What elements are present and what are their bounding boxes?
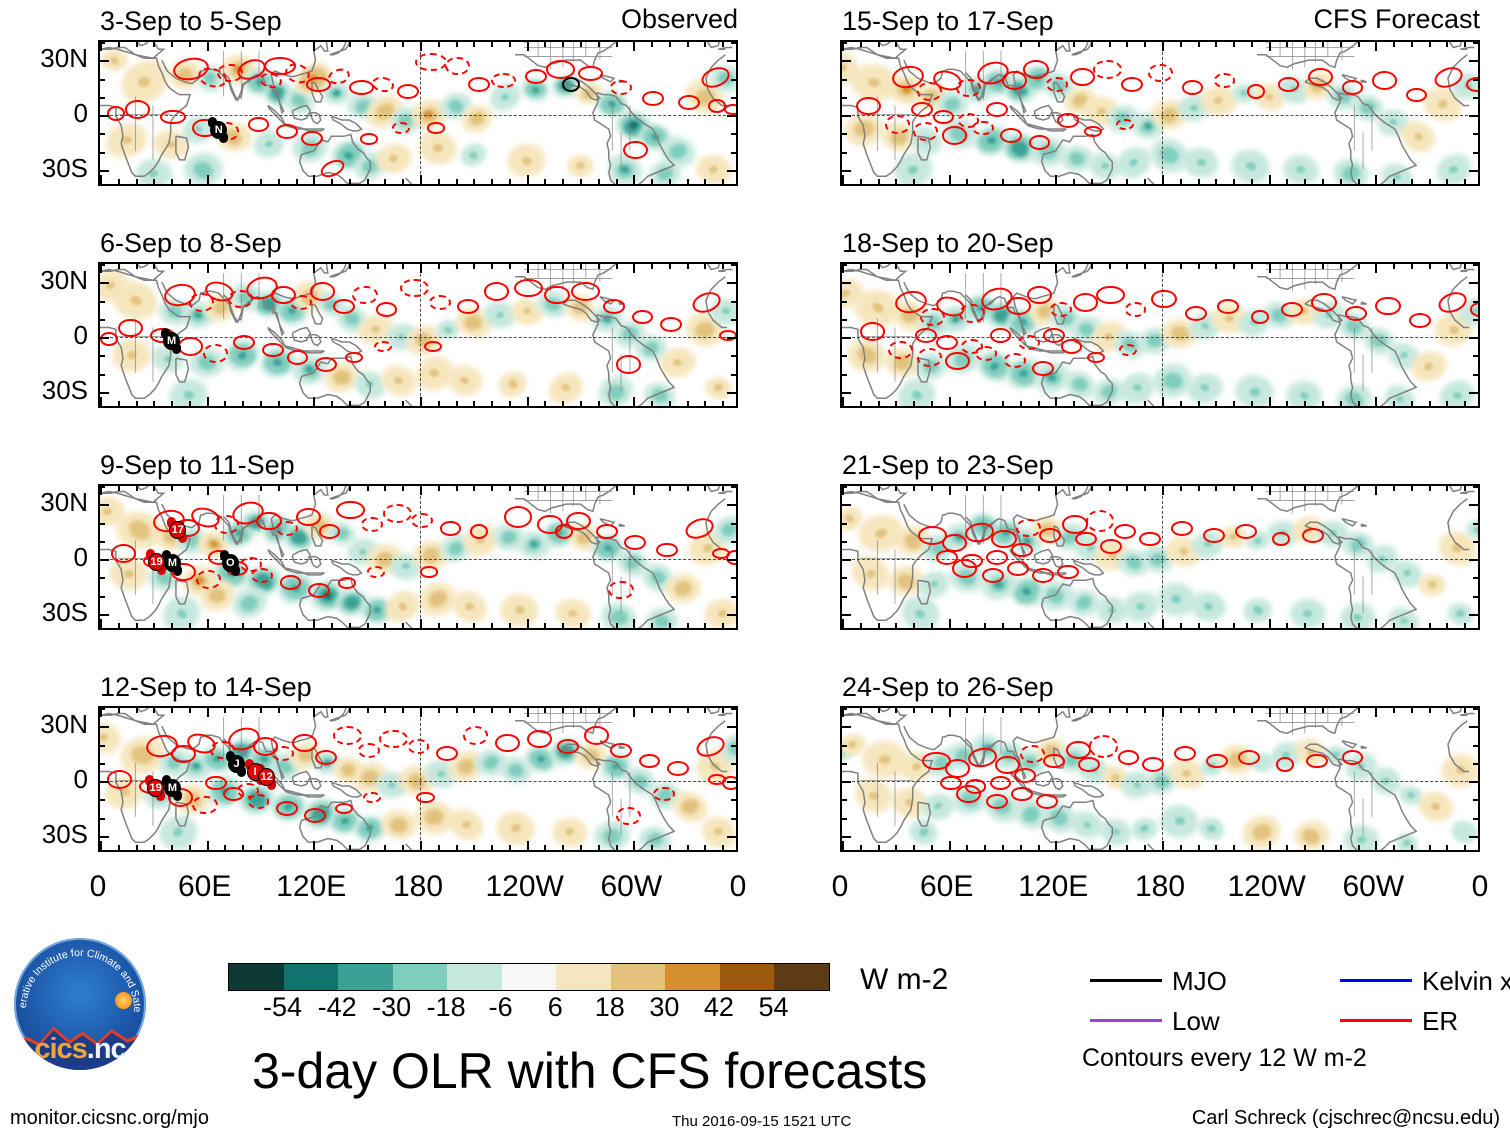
y-tick — [1473, 319, 1478, 321]
wave-contour — [616, 355, 641, 374]
wave-contour — [1032, 568, 1054, 583]
y-tick — [842, 708, 847, 710]
x-tick — [722, 179, 724, 184]
x-tick — [984, 401, 986, 406]
x-tick — [1446, 42, 1448, 47]
x-tick — [687, 623, 689, 628]
wave-contour — [990, 776, 1012, 791]
x-tick — [491, 401, 493, 406]
x-tick — [1073, 623, 1075, 628]
x-tick — [384, 179, 386, 184]
x-tick — [207, 708, 209, 717]
wave-contour — [986, 794, 1008, 809]
x-tick — [544, 623, 546, 628]
x-tick — [722, 708, 724, 713]
y-tick — [842, 504, 851, 506]
x-tick — [153, 179, 155, 184]
x-tick — [384, 42, 386, 47]
x-tick — [1464, 845, 1466, 850]
wave-contour — [296, 508, 321, 527]
x-tick — [895, 179, 897, 184]
wave-contour — [1342, 80, 1364, 95]
x-tick — [651, 708, 653, 713]
x-tick — [367, 42, 369, 47]
x-tick — [136, 42, 138, 47]
dateline — [1162, 486, 1163, 628]
y-tick — [727, 504, 736, 506]
y-axis-label: 0 — [6, 322, 88, 348]
y-tick — [842, 799, 847, 801]
colorbar-segment — [665, 964, 720, 990]
legend-label-low: Low — [1172, 1008, 1220, 1034]
y-tick — [842, 282, 851, 284]
x-tick — [260, 845, 262, 850]
map-panel-p6[interactable] — [840, 262, 1480, 408]
y-tick — [731, 818, 736, 820]
x-tick — [136, 179, 138, 184]
wave-contour — [1018, 335, 1040, 350]
x-tick — [1038, 486, 1040, 491]
x-tick — [1429, 486, 1431, 491]
x-tick — [1162, 175, 1164, 184]
x-tick — [598, 708, 600, 713]
wave-contour — [1114, 524, 1136, 539]
x-tick — [562, 623, 564, 628]
x-tick — [456, 401, 458, 406]
y-axis-label: 0 — [6, 766, 88, 792]
x-tick — [260, 179, 262, 184]
y-tick — [100, 577, 105, 579]
wave-contour — [1121, 77, 1143, 92]
x-tick — [1091, 845, 1093, 850]
x-tick — [1286, 264, 1288, 269]
logo-sun-icon — [115, 992, 132, 1009]
x-tick — [633, 42, 635, 51]
wave-contour — [1096, 286, 1125, 305]
map-panel-p5[interactable] — [840, 40, 1480, 186]
x-tick — [1215, 179, 1217, 184]
y-tick — [842, 392, 851, 394]
wave-contour — [1151, 290, 1176, 309]
legend-swatch-er — [1340, 1019, 1412, 1022]
wave-contour — [1061, 339, 1083, 354]
wave-contour — [642, 91, 664, 106]
map-panel-p8[interactable] — [840, 706, 1480, 852]
x-tick — [118, 179, 120, 184]
x-tick — [1215, 708, 1217, 713]
wave-contour — [484, 282, 509, 301]
x-tick — [1073, 486, 1075, 491]
x-tick — [1162, 841, 1164, 850]
wave-contour — [333, 299, 355, 314]
map-panel-p3[interactable]: 1719MO — [98, 484, 738, 630]
x-tick — [913, 179, 915, 184]
wave-contour — [571, 282, 600, 301]
x-tick — [1198, 486, 1200, 491]
x-tick — [527, 42, 529, 51]
x-tick — [1304, 179, 1306, 184]
x-tick — [438, 42, 440, 47]
y-tick — [100, 559, 109, 561]
y-tick — [727, 115, 736, 117]
y-tick — [842, 614, 851, 616]
x-tick — [224, 708, 226, 713]
wave-contour — [445, 57, 470, 76]
wave-contour — [196, 570, 221, 589]
wave-contour — [1011, 543, 1033, 558]
x-tick — [136, 708, 138, 713]
wave-contour — [308, 583, 330, 598]
y-tick — [1473, 374, 1478, 376]
x-tick — [1144, 845, 1146, 850]
x-tick — [1411, 179, 1413, 184]
wave-contour — [1278, 77, 1300, 92]
wave-contour — [956, 79, 981, 98]
wave-contour — [1057, 113, 1079, 128]
x-tick — [367, 401, 369, 406]
x-tick — [1429, 264, 1431, 269]
x-tick — [669, 42, 671, 47]
panel-title-p4: 12-Sep to 14-Sep — [100, 674, 312, 701]
x-axis-label: 180 — [363, 872, 473, 902]
x-tick — [296, 708, 298, 713]
map-content: 19MJI12 — [100, 708, 736, 850]
x-tick — [1038, 401, 1040, 406]
x-tick — [580, 708, 582, 713]
x-tick — [931, 486, 933, 491]
x-axis-label: 60W — [1318, 872, 1428, 902]
x-tick — [633, 619, 635, 628]
y-tick — [842, 115, 851, 117]
x-tick — [931, 401, 933, 406]
x-tick — [1446, 179, 1448, 184]
wave-contour — [1070, 68, 1095, 87]
x-tick — [1358, 401, 1360, 406]
x-tick — [669, 845, 671, 850]
map-panel-p4[interactable]: 19MJI12 — [98, 706, 738, 852]
x-tick — [1464, 401, 1466, 406]
x-tick — [860, 179, 862, 184]
x-tick — [704, 179, 706, 184]
x-tick — [402, 708, 404, 713]
x-tick — [189, 179, 191, 184]
x-tick — [278, 708, 280, 713]
y-tick — [727, 559, 736, 561]
x-tick — [1304, 401, 1306, 406]
wave-contour — [411, 513, 433, 528]
x-tick — [544, 179, 546, 184]
x-tick — [895, 845, 897, 850]
wave-contour — [1148, 64, 1173, 83]
legend-label-mjo: MJO — [1172, 968, 1227, 994]
map-panel-p7[interactable] — [840, 484, 1480, 630]
x-tick — [616, 179, 618, 184]
footer-author: Carl Schreck (cjschrec@ncsu.edu) — [1192, 1108, 1500, 1128]
y-tick — [1473, 355, 1478, 357]
x-tick — [1073, 401, 1075, 406]
y-tick — [731, 763, 736, 765]
x-tick — [1055, 264, 1057, 273]
x-tick — [966, 708, 968, 713]
y-tick — [1473, 264, 1478, 266]
x-tick — [296, 401, 298, 406]
wave-contour — [942, 126, 967, 145]
x-tick — [1340, 845, 1342, 850]
x-tick — [633, 175, 635, 184]
dateline — [1162, 264, 1163, 406]
y-tick — [100, 301, 105, 303]
wave-contour — [1039, 528, 1061, 543]
x-tick — [1180, 42, 1182, 47]
wave-contour — [1238, 750, 1260, 765]
x-tick — [1002, 845, 1004, 850]
wave-contour — [1014, 768, 1036, 783]
wave-contour — [1027, 286, 1052, 305]
x-tick — [1446, 264, 1448, 269]
y-axis-label: 30N — [6, 489, 88, 515]
x-tick — [1411, 401, 1413, 406]
x-tick — [100, 619, 102, 628]
x-tick — [1073, 708, 1075, 713]
x-axis-label: 0 — [683, 872, 793, 902]
x-tick — [118, 708, 120, 713]
wave-contour — [624, 535, 646, 550]
x-tick — [242, 264, 244, 269]
x-tick — [278, 179, 280, 184]
x-tick — [1126, 401, 1128, 406]
x-tick — [1233, 264, 1235, 269]
wave-contour — [315, 357, 337, 372]
y-tick — [100, 170, 109, 172]
x-tick — [949, 708, 951, 717]
colorbar-segment — [556, 964, 611, 990]
x-tick — [722, 264, 724, 269]
x-tick — [153, 845, 155, 850]
y-tick — [100, 115, 109, 117]
x-tick — [1126, 708, 1128, 713]
map-panel-p1[interactable]: N — [98, 40, 738, 186]
x-tick — [224, 486, 226, 491]
wave-contour — [280, 575, 302, 590]
x-tick — [349, 264, 351, 269]
wave-contour — [1375, 297, 1400, 316]
wave-contour — [660, 317, 682, 332]
x-axis-label: 120W — [470, 872, 580, 902]
x-tick — [367, 486, 369, 491]
x-tick — [616, 401, 618, 406]
x-tick — [331, 264, 333, 269]
footer-site-link[interactable]: monitor.cicsnc.org/mjo — [10, 1108, 209, 1128]
y-tick — [100, 781, 109, 783]
y-tick — [1473, 301, 1478, 303]
map-panel-p2[interactable]: M — [98, 262, 738, 408]
storm-marker: J — [225, 751, 247, 777]
y-tick — [1469, 559, 1478, 561]
x-tick — [527, 264, 529, 273]
x-tick — [456, 623, 458, 628]
x-tick — [1038, 264, 1040, 269]
x-tick — [1144, 708, 1146, 713]
y-tick — [1473, 596, 1478, 598]
x-tick — [1322, 708, 1324, 713]
logo-word-cics: cics — [34, 1033, 86, 1065]
map-content: N — [100, 42, 736, 184]
x-tick — [913, 623, 915, 628]
wave-contour — [1276, 757, 1294, 772]
x-tick — [562, 264, 564, 269]
x-tick — [878, 264, 880, 269]
y-tick — [731, 799, 736, 801]
x-tick — [687, 845, 689, 850]
x-tick — [136, 623, 138, 628]
x-tick — [1002, 708, 1004, 713]
x-axis-label: 0 — [43, 872, 153, 902]
y-tick — [100, 818, 105, 820]
x-tick — [913, 486, 915, 491]
y-tick — [100, 133, 105, 135]
wave-contour — [562, 77, 580, 92]
y-tick — [731, 355, 736, 357]
colorbar-segment — [502, 964, 557, 990]
y-tick — [100, 152, 105, 154]
x-tick — [438, 401, 440, 406]
x-tick — [1375, 42, 1377, 51]
x-tick — [456, 845, 458, 850]
wave-contour — [276, 801, 298, 816]
x-tick — [331, 623, 333, 628]
wave-contour — [959, 304, 984, 323]
x-tick — [687, 486, 689, 491]
wave-contour — [1029, 135, 1051, 150]
x-tick — [633, 708, 635, 717]
y-tick — [842, 763, 847, 765]
x-tick — [331, 42, 333, 47]
x-tick — [1393, 264, 1395, 269]
wave-contour — [544, 286, 569, 305]
x-tick — [580, 486, 582, 491]
x-axis-label: 120W — [1212, 872, 1322, 902]
x-tick — [687, 179, 689, 184]
x-tick — [420, 708, 422, 717]
panel-title-p3: 9-Sep to 11-Sep — [100, 452, 295, 479]
x-tick — [1411, 623, 1413, 628]
x-tick — [1446, 708, 1448, 713]
x-tick — [651, 623, 653, 628]
x-tick — [491, 264, 493, 269]
y-tick — [100, 79, 105, 81]
x-tick — [260, 401, 262, 406]
x-tick — [1464, 708, 1466, 713]
x-tick — [949, 42, 951, 51]
y-tick — [1469, 504, 1478, 506]
y-tick — [731, 708, 736, 710]
y-tick — [100, 726, 109, 728]
x-tick — [509, 401, 511, 406]
x-tick — [1358, 708, 1360, 713]
y-tick — [842, 301, 847, 303]
x-tick — [878, 401, 880, 406]
x-tick — [1286, 486, 1288, 491]
x-tick — [1269, 264, 1271, 273]
x-tick — [1358, 264, 1360, 269]
x-tick — [651, 845, 653, 850]
y-tick — [842, 264, 847, 266]
x-tick — [878, 845, 880, 850]
x-tick — [860, 845, 862, 850]
x-tick — [1286, 42, 1288, 47]
x-tick — [1429, 708, 1431, 713]
x-tick — [1198, 179, 1200, 184]
wave-contour — [408, 739, 430, 754]
x-tick — [651, 179, 653, 184]
logo-wordmark: cics.nc — [14, 1033, 146, 1066]
x-tick — [260, 42, 262, 47]
x-tick — [669, 401, 671, 406]
y-tick — [731, 596, 736, 598]
page-title: 3-day OLR with CFS forecasts — [252, 1046, 927, 1096]
x-tick — [367, 708, 369, 713]
x-tick — [878, 708, 880, 713]
wave-contour — [1043, 328, 1065, 343]
x-tick — [1251, 708, 1253, 713]
wave-contour — [1043, 754, 1065, 769]
x-tick — [491, 845, 493, 850]
y-tick — [1473, 79, 1478, 81]
x-tick — [1304, 845, 1306, 850]
x-tick — [189, 264, 191, 269]
wave-contour — [233, 335, 255, 350]
x-tick — [224, 623, 226, 628]
x-tick — [722, 486, 724, 491]
wave-contour — [596, 524, 618, 539]
x-tick — [1269, 486, 1271, 495]
x-tick — [633, 841, 635, 850]
x-tick — [1269, 708, 1271, 717]
x-tick — [224, 845, 226, 850]
x-axis-label: 60E — [150, 872, 260, 902]
wave-contour — [1182, 80, 1204, 95]
y-tick — [731, 133, 736, 135]
wave-contour — [610, 743, 632, 758]
legend-label-kelvin-x2: Kelvin x2 — [1422, 968, 1510, 994]
x-tick — [1411, 264, 1413, 269]
wave-contour — [470, 524, 488, 539]
y-tick — [842, 374, 847, 376]
x-tick — [473, 486, 475, 491]
x-tick — [1446, 845, 1448, 850]
wave-contour — [1100, 539, 1122, 554]
y-tick — [100, 523, 105, 525]
x-tick — [527, 397, 529, 406]
x-tick — [562, 42, 564, 47]
y-tick — [842, 745, 847, 747]
y-tick — [727, 282, 736, 284]
x-tick — [580, 179, 582, 184]
x-tick — [1055, 42, 1057, 51]
y-tick — [842, 577, 847, 579]
x-tick — [313, 175, 315, 184]
wave-contour — [911, 102, 933, 117]
x-tick — [1233, 486, 1235, 491]
x-tick — [1286, 401, 1288, 406]
y-tick — [100, 60, 109, 62]
x-tick — [1286, 708, 1288, 713]
x-tick — [1215, 623, 1217, 628]
x-tick — [895, 264, 897, 269]
y-tick — [100, 319, 105, 321]
x-tick — [1269, 42, 1271, 51]
x-tick — [1020, 179, 1022, 184]
